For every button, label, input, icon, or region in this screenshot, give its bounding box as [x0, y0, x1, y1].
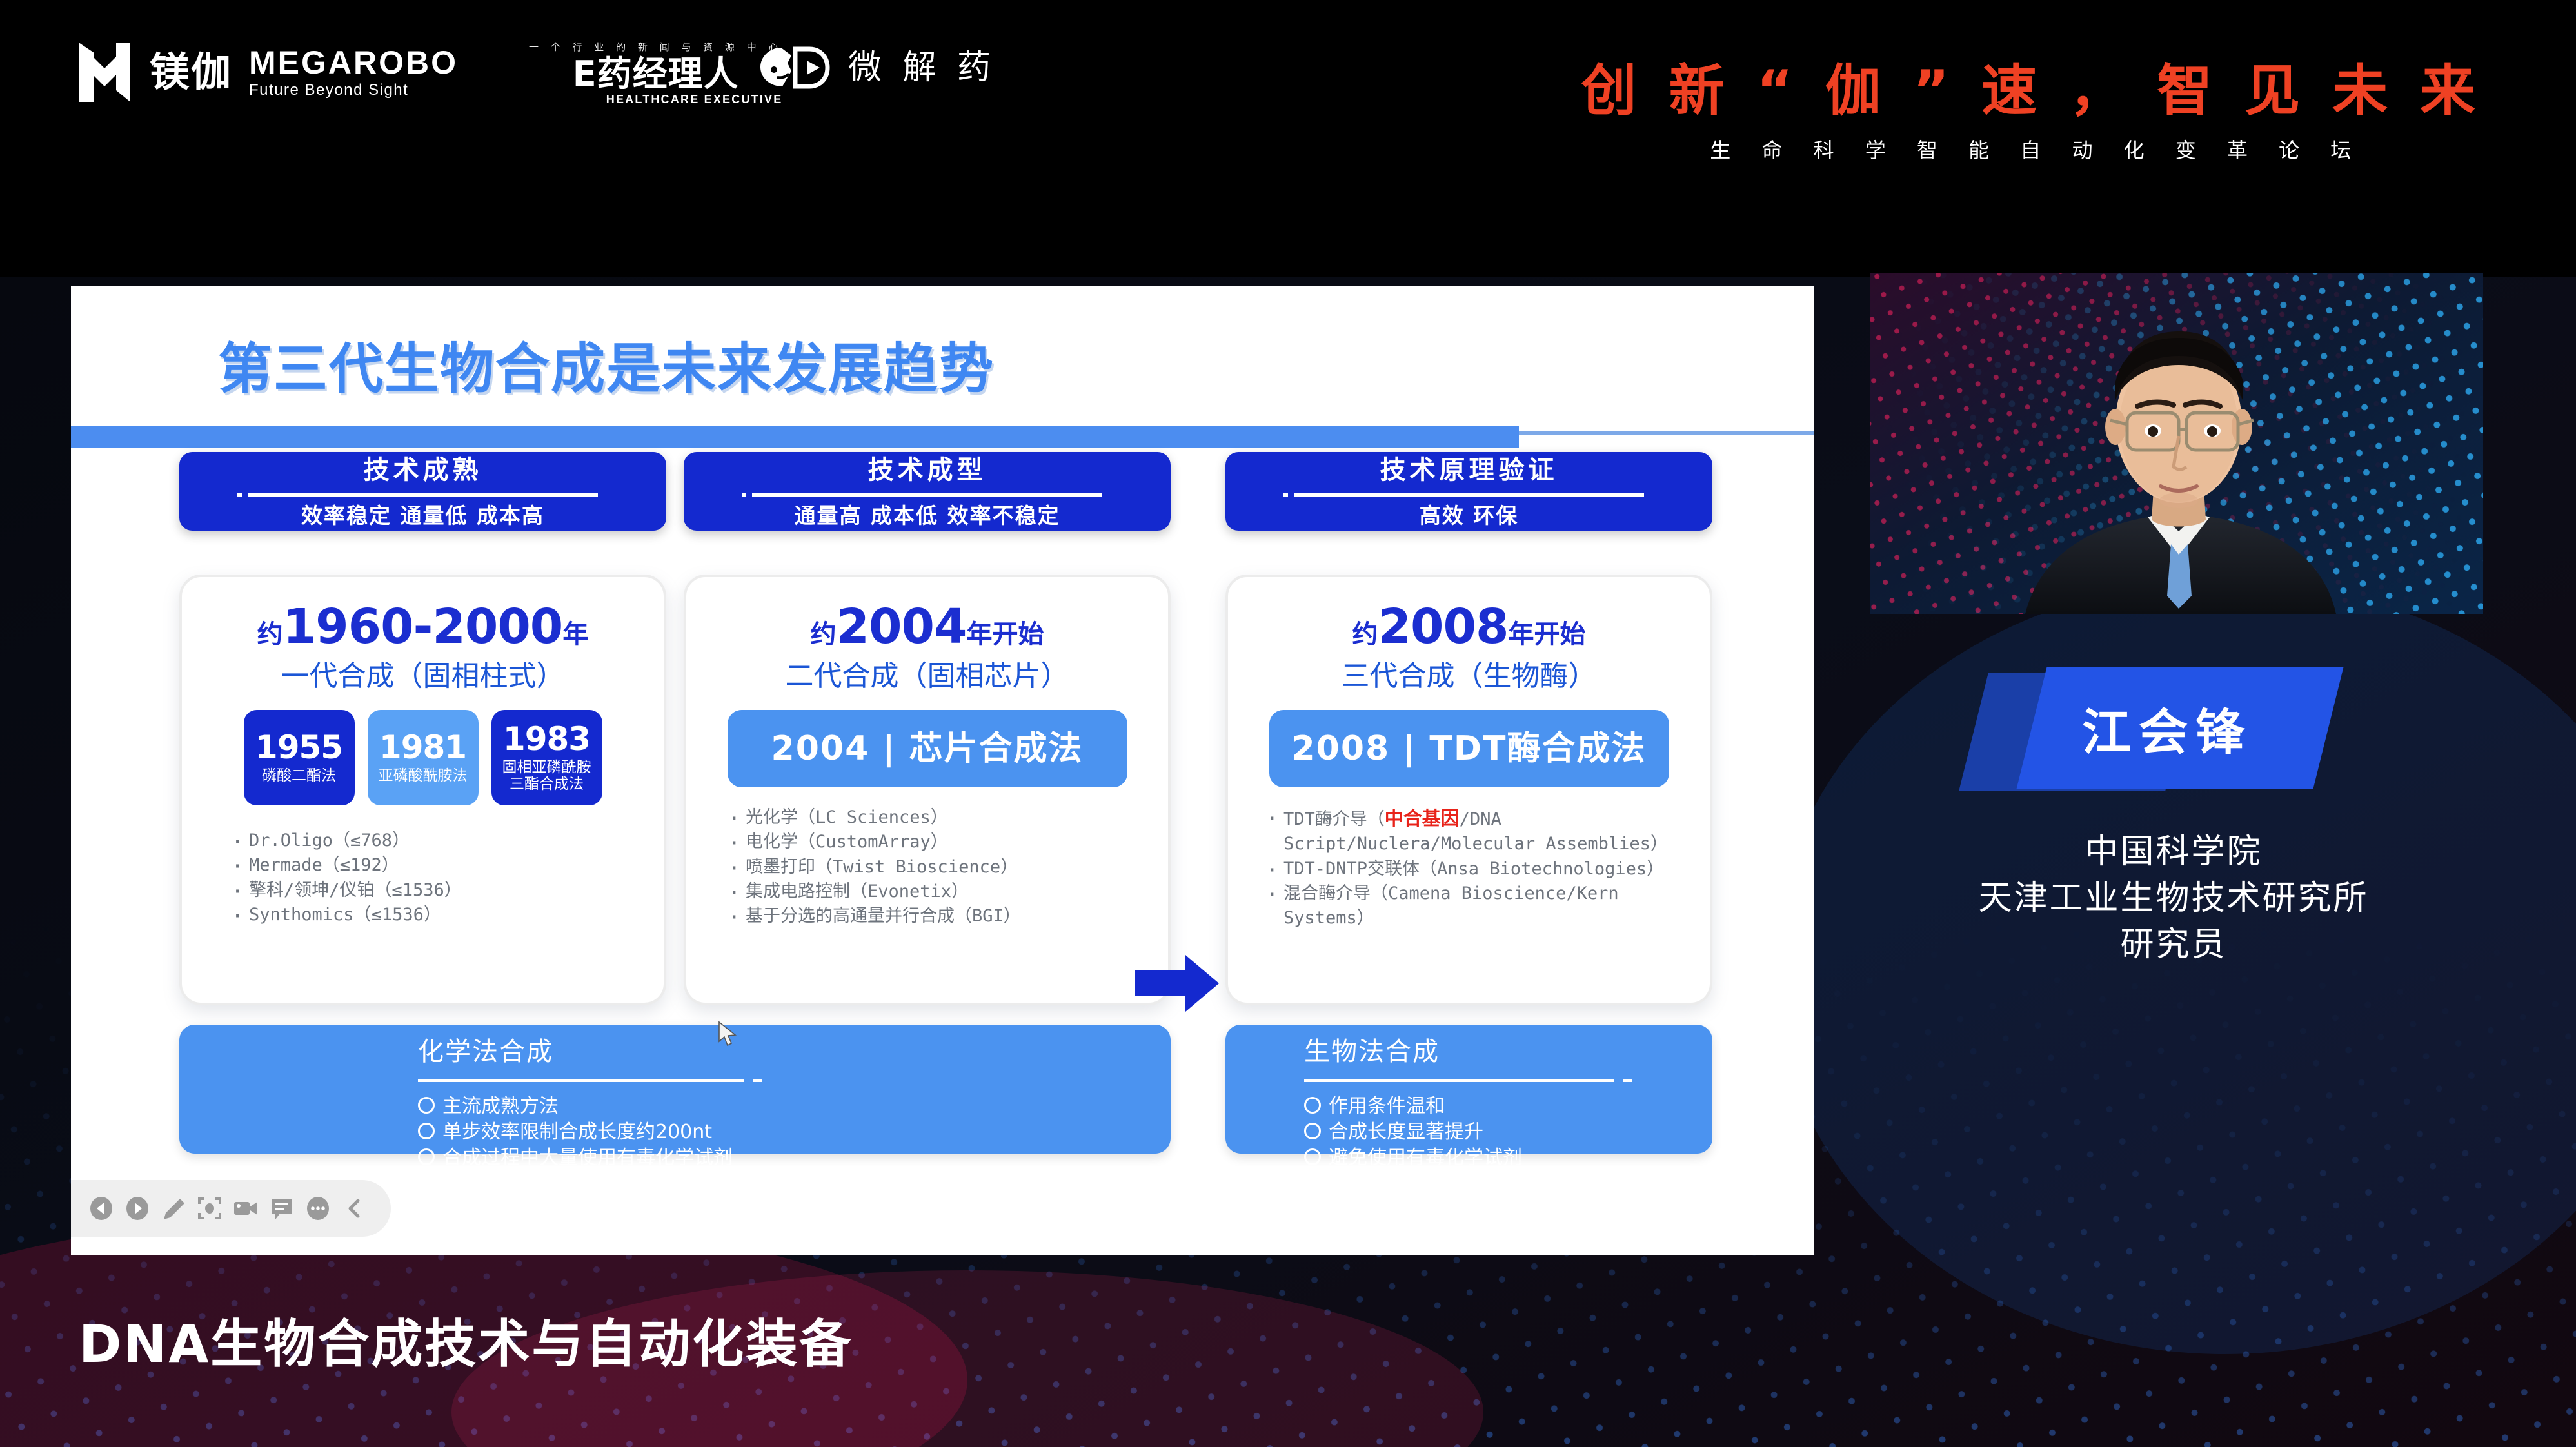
chip-label: 磷酸二酯法: [262, 767, 336, 784]
panel-title: 生物法合成: [1304, 1039, 1665, 1065]
panel-divider: [418, 1079, 744, 1082]
presentation-stage: 镁伽 MEGAROBO Future Beyond Sight 一 个 行 业 …: [0, 0, 2576, 1447]
card-year-heading: 约2004年开始: [686, 603, 1168, 651]
next-slide-button[interactable]: [121, 1192, 154, 1225]
panel-divider: [1304, 1079, 1614, 1082]
focus-target-icon: [196, 1195, 223, 1222]
comment-button[interactable]: [266, 1192, 298, 1225]
list-item: Dr.Oligo（≤768）: [230, 829, 638, 853]
weijieyao-logo: 微 解 药: [758, 44, 996, 92]
header-logo-bar: 镁伽 MEGAROBO Future Beyond Sight 一 个 行 业 …: [0, 0, 2576, 245]
card-bullet-list: TDT酶介导（中合基因/DNA Script/Nuclera/Molecular…: [1264, 805, 1692, 931]
annotate-pen-button[interactable]: [157, 1192, 190, 1225]
card-year-prefix: 约: [257, 620, 283, 649]
chevron-left-circle-icon: [88, 1195, 115, 1222]
list-item-label: 单步效率限制合成长度约200nt: [442, 1121, 712, 1143]
maturity-badge-row: 技术成熟 效率稳定 通量低 成本高 技术成型 通量高 成本低 效率不稳定 技术原…: [71, 452, 1814, 531]
card-subtitle: 一代合成（固相柱式）: [182, 662, 664, 691]
list-item: 合成长度显著提升: [1304, 1119, 1665, 1145]
slide-title: 第三代生物合成是未来发展趋势: [218, 326, 995, 404]
badge-principle-validated: 技术原理验证 高效 环保: [1225, 452, 1712, 531]
list-item: 光化学（LC Sciences）: [726, 805, 1142, 830]
list-item: Synthomics（≤1536）: [230, 903, 638, 927]
list-item: 主流成熟方法: [418, 1094, 908, 1119]
card-year-value: 1960-2000: [283, 599, 563, 655]
milestone-chip-row: 1955 磷酸二酯法 1981 亚磷酸酰胺法 1983 固相亚磷酰胺 三酯合成法: [182, 710, 664, 805]
list-item-label: 主流成熟方法: [442, 1095, 559, 1117]
collapse-toolbar-button[interactable]: [338, 1192, 370, 1225]
generation-card-third: 约2008年开始 三代合成（生物酶） 2008 | TDT酶合成法 TDT酶介导…: [1225, 575, 1712, 1005]
card-year-suffix: 年: [562, 620, 588, 649]
badge-title: 技术原理验证: [1380, 457, 1558, 483]
badge-technology-forming: 技术成型 通量高 成本低 效率不稳定: [684, 452, 1171, 531]
title-underline-bar: [71, 426, 1519, 448]
card-bullet-list: 光化学（LC Sciences） 电化学（CustomArray） 喷墨打印（T…: [726, 805, 1142, 929]
eyao-logo: 一 个 行 业 的 新 闻 与 资 源 中 心 E药经理人 HEALTHCARE…: [529, 40, 782, 106]
list-item: 作用条件温和: [1304, 1094, 1665, 1119]
milestone-chip: 1955 磷酸二酯法: [244, 710, 355, 805]
card-year-prefix: 约: [811, 620, 837, 649]
chip-label: 固相亚磷酰胺 三酯合成法: [502, 759, 591, 793]
speaker-panel: 江会锋 中国科学院 天津工业生物技术研究所 研究员: [1870, 273, 2522, 1112]
method-chip: 2004 | 芯片合成法: [728, 710, 1127, 787]
bullet-highlight: 中合基因: [1385, 807, 1460, 829]
forum-headline: 创 新 “ 伽 ” 速 ， 智 见 未 来 生 命 科 学 智 能 自 动 化 …: [1581, 62, 2482, 164]
speaker-name: 江会锋: [1974, 667, 2361, 789]
badge-divider: [248, 493, 599, 497]
chip-year: 1981: [379, 731, 466, 763]
record-video-button[interactable]: [230, 1192, 262, 1225]
card-year-suffix: 年开始: [966, 620, 1044, 649]
badge-divider: [752, 493, 1103, 497]
megarobo-wordmark: MEGAROBO: [249, 46, 458, 79]
affiliation-line: 中国科学院: [1864, 829, 2483, 876]
list-item: 基于分选的高通量并行合成（BGI）: [726, 904, 1142, 929]
progression-arrow-icon: [1135, 954, 1219, 1013]
badge-subtitle: 通量高 成本低 效率不稳定: [795, 505, 1060, 526]
megarobo-tagline: Future Beyond Sight: [249, 83, 458, 98]
generation-card-second: 约2004年开始 二代合成（固相芯片） 2004 | 芯片合成法 光化学（LC …: [684, 575, 1171, 1005]
list-item: 擎科/领坤/仪铂（≤1536）: [230, 878, 638, 903]
circle-bullet-icon: [418, 1148, 435, 1165]
speaker-headshot: [1870, 273, 2483, 614]
circle-bullet-icon: [1304, 1148, 1321, 1165]
list-item-label: 作用条件温和: [1329, 1095, 1445, 1117]
list-item: Mermade（≤192）: [230, 853, 638, 878]
biological-synthesis-panel: 生物法合成 作用条件温和 合成长度显著提升 避免使用有毒化学试剂: [1225, 1025, 1712, 1154]
list-item: 混合酶介导（Camena Bioscience/Kern Systems）: [1264, 881, 1692, 931]
weijieyao-chinese-name: 微 解 药: [848, 51, 996, 84]
weijieyao-mark-icon: [758, 44, 834, 92]
speaker-affiliation: 中国科学院 天津工业生物技术研究所 研究员: [1864, 829, 2483, 968]
chevron-left-icon: [341, 1195, 368, 1222]
list-item: 电化学（CustomArray）: [726, 830, 1142, 854]
milestone-chip: 1983 固相亚磷酰胺 三酯合成法: [491, 710, 602, 805]
list-item: TDT酶介导（中合基因/DNA Script/Nuclera/Molecular…: [1264, 805, 1692, 857]
badge-title: 技术成熟: [364, 457, 482, 483]
list-item: 单步效率限制合成长度约200nt: [418, 1119, 908, 1145]
list-item-label: 避免使用有毒化学试剂: [1329, 1147, 1522, 1169]
affiliation-line: 天津工业生物技术研究所: [1864, 876, 2483, 922]
card-subtitle: 二代合成（固相芯片）: [686, 662, 1168, 691]
chip-year: 1955: [255, 731, 342, 763]
chevron-right-circle-icon: [124, 1195, 151, 1222]
circle-bullet-icon: [418, 1097, 435, 1114]
card-year-heading: 约2008年开始: [1228, 603, 1710, 651]
list-item: 避免使用有毒化学试剂: [1304, 1145, 1665, 1171]
more-options-button[interactable]: [302, 1192, 334, 1225]
badge-title: 技术成型: [868, 457, 987, 483]
laser-pointer-button[interactable]: [193, 1192, 226, 1225]
card-year-suffix: 年开始: [1508, 620, 1585, 649]
speaker-portrait-image: [1870, 273, 2483, 614]
megarobo-mark-icon: [76, 40, 133, 104]
list-item-label: 合成过程中大量使用有毒化学试剂: [442, 1147, 733, 1169]
talk-title: DNA生物合成技术与自动化装备: [79, 1303, 853, 1377]
ellipsis-icon: [304, 1195, 332, 1222]
eyao-strapline: 一 个 行 业 的 新 闻 与 资 源 中 心: [529, 40, 782, 54]
badge-divider: [1294, 493, 1645, 497]
panel-title: 化学法合成: [418, 1039, 908, 1065]
megarobo-logo: 镁伽 MEGAROBO Future Beyond Sight: [76, 40, 458, 104]
eyao-english-name: HEALTHCARE EXECUTIVE: [606, 93, 783, 106]
presentation-toolbar[interactable]: [71, 1180, 391, 1237]
list-item: 合成过程中大量使用有毒化学试剂: [418, 1145, 908, 1171]
video-camera-icon: [232, 1195, 259, 1222]
speaker-name-banner: 江会锋: [1974, 667, 2361, 796]
card-year-value: 2004: [837, 599, 967, 655]
panel-item-list: 主流成熟方法 单步效率限制合成长度约200nt 合成过程中大量使用有毒化学试剂: [418, 1094, 908, 1171]
milestone-chip: 1981 亚磷酸酰胺法: [368, 710, 479, 805]
badge-subtitle: 效率稳定 通量低 成本高: [301, 505, 544, 526]
method-chip: 2008 | TDT酶合成法: [1269, 710, 1669, 787]
badge-subtitle: 高效 环保: [1420, 505, 1519, 526]
mouse-cursor: [718, 1021, 740, 1049]
chemical-synthesis-panel: 化学法合成 主流成熟方法 单步效率限制合成长度约200nt 合成过程中大量使用有…: [179, 1025, 1171, 1154]
list-item: TDT-DNTP交联体（Ansa Biotechnologies）: [1264, 857, 1692, 881]
speech-bubble-icon: [268, 1195, 295, 1222]
card-year-value: 2008: [1378, 599, 1509, 655]
chip-year: 1983: [503, 723, 590, 755]
previous-slide-button[interactable]: [85, 1192, 117, 1225]
card-year-heading: 约1960-2000年: [182, 603, 664, 651]
list-item: 集成电路控制（Evonetix）: [726, 880, 1142, 904]
method-chip-label: 2004 | 芯片合成法: [771, 732, 1084, 765]
badge-technology-mature: 技术成熟 效率稳定 通量低 成本高: [179, 452, 666, 531]
megarobo-chinese-name: 镁伽: [150, 52, 232, 92]
generation-card-first: 约1960-2000年 一代合成（固相柱式） 1955 磷酸二酯法 1981 亚…: [179, 575, 666, 1005]
eyao-wordmark: E药经理人: [573, 56, 739, 92]
card-subtitle: 三代合成（生物酶）: [1228, 662, 1710, 691]
chip-label: 亚磷酸酰胺法: [379, 767, 468, 784]
forum-title: 创 新 “ 伽 ” 速 ， 智 见 未 来: [1581, 62, 2482, 120]
forum-subtitle: 生 命 科 学 智 能 自 动 化 变 革 论 坛: [1581, 134, 2482, 164]
pen-icon: [160, 1195, 187, 1222]
title-underline-rule: [1519, 431, 1814, 435]
panel-item-list: 作用条件温和 合成长度显著提升 避免使用有毒化学试剂: [1304, 1094, 1665, 1171]
circle-bullet-icon: [418, 1123, 435, 1139]
affiliation-line: 研究员: [1864, 922, 2483, 969]
list-item-label: 合成长度显著提升: [1329, 1121, 1483, 1143]
card-bullet-list: Dr.Oligo（≤768） Mermade（≤192） 擎科/领坤/仪铂（≤1…: [230, 829, 638, 927]
list-item: 喷墨打印（Twist Bioscience）: [726, 855, 1142, 880]
slide-canvas[interactable]: 第三代生物合成是未来发展趋势 技术成熟 效率稳定 通量低 成本高 技术成型 通量…: [71, 286, 1814, 1255]
card-year-prefix: 约: [1352, 620, 1378, 649]
bullet-pre: TDT酶介导（: [1283, 809, 1385, 829]
method-chip-label: 2008 | TDT酶合成法: [1291, 732, 1646, 765]
circle-bullet-icon: [1304, 1123, 1321, 1139]
circle-bullet-icon: [1304, 1097, 1321, 1114]
